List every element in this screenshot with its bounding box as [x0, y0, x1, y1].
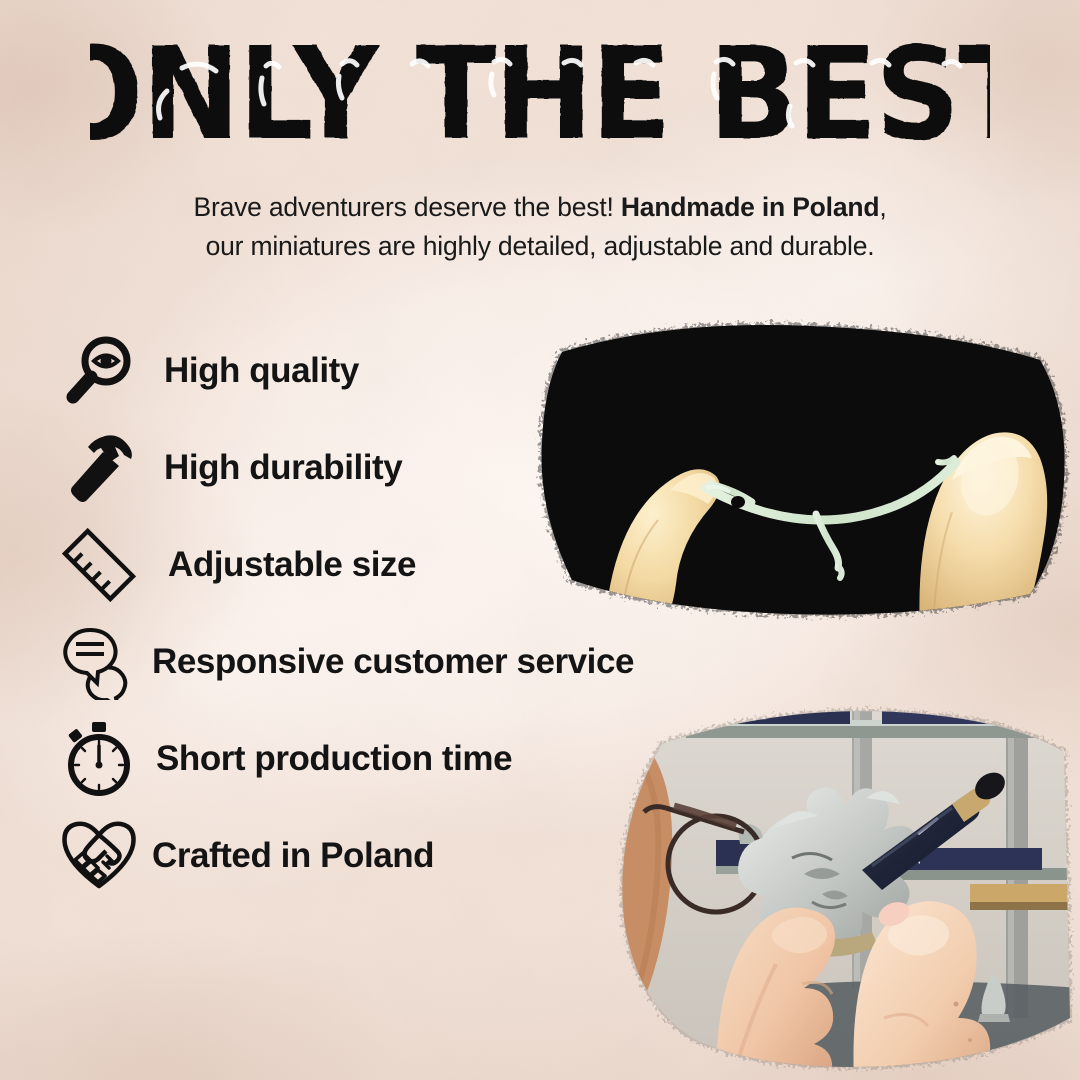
subtitle-line2: our miniatures are highly detailed, adju… — [206, 231, 875, 261]
ruler-icon — [56, 522, 142, 608]
infographic-canvas: ONLY THE BEST — [0, 0, 1080, 1080]
headline-lettering: ONLY THE BEST — [90, 34, 990, 164]
feature-item-production-time[interactable]: Short production time — [56, 710, 796, 807]
feature-label: Responsive customer service — [152, 642, 634, 682]
feature-label: Adjustable size — [168, 545, 416, 585]
subtitle-line1-post: , — [879, 192, 886, 222]
feature-item-customer-service[interactable]: Responsive customer service — [56, 613, 796, 710]
feature-item-high-durability[interactable]: High durability — [56, 419, 796, 516]
handshake-heart-icon — [56, 813, 142, 899]
feature-item-adjustable-size[interactable]: Adjustable size — [56, 516, 796, 613]
feature-item-crafted-in-poland[interactable]: Crafted in Poland — [56, 807, 796, 904]
feature-label: Short production time — [156, 739, 512, 779]
feature-label: High quality — [164, 351, 359, 391]
feature-label: High durability — [164, 448, 402, 488]
subtitle-line1-pre: Brave adventurers deserve the best! — [193, 192, 620, 222]
speech-bubbles-icon — [56, 619, 142, 705]
stopwatch-icon — [56, 716, 142, 802]
feature-list: High quality High durability — [56, 322, 796, 904]
magnifier-eye-icon — [56, 328, 142, 414]
headline: ONLY THE BEST — [0, 34, 1080, 164]
feature-label: Crafted in Poland — [152, 836, 434, 876]
subtitle-line1-bold: Handmade in Poland — [621, 192, 880, 222]
headline-text: ONLY THE BEST — [90, 34, 990, 164]
feature-item-high-quality[interactable]: High quality — [56, 322, 796, 419]
hammer-icon — [56, 425, 142, 511]
subtitle: Brave adventurers deserve the best! Hand… — [90, 188, 990, 266]
